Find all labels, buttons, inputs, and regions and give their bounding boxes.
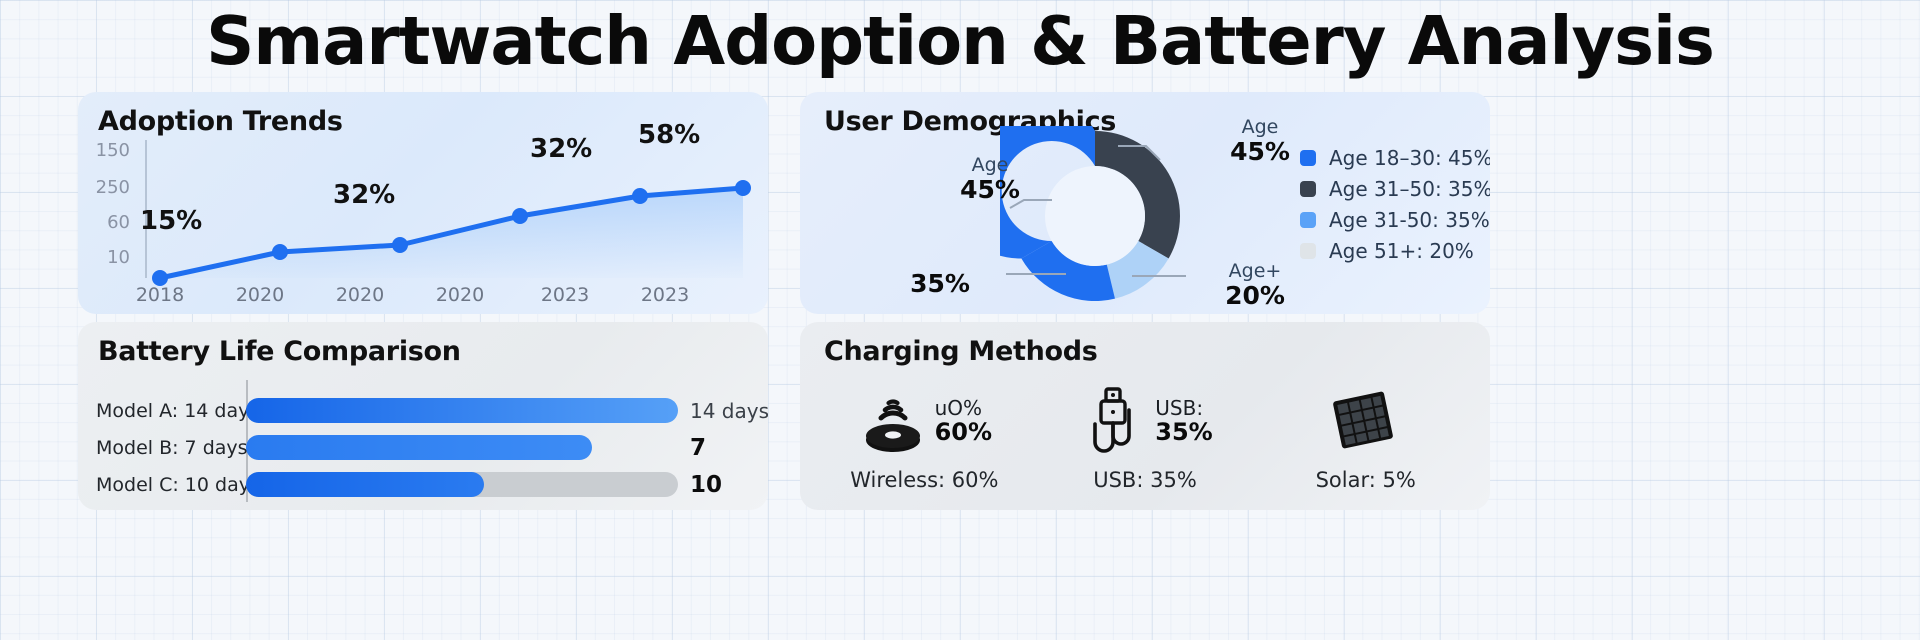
bar-label-model-b: Model B: 7 days — [96, 437, 246, 459]
list-item-wireless[interactable]: uO% 60% Wireless: 60% — [814, 384, 1035, 492]
y-tick-2: 60 — [86, 212, 130, 233]
legend-swatch-icon — [1300, 243, 1316, 259]
panel-user-demographics: User Demographics Age 45% Age 45% 35% Ag… — [800, 92, 1490, 314]
table-row: Model B: 7 days 7 — [96, 429, 756, 466]
panel-adoption-trends: Adoption Trends 150 250 60 10 2018 2020 … — [78, 92, 768, 314]
charging-methods-list: uO% 60% Wireless: 60% USB: 35% — [814, 384, 1476, 492]
x-tick-3: 2020 — [425, 284, 495, 306]
demographics-legend: Age 18–30: 45% Age 31–50: 35% Age 31-50:… — [1300, 142, 1490, 266]
usb-inline-stat: USB: 35% — [1155, 398, 1212, 445]
bar-fill-model-b — [246, 435, 592, 460]
wireless-inline-stat: uO% 60% — [935, 398, 992, 445]
wireless-charger-icon — [857, 386, 929, 458]
table-row: Model C: 10 days 10 10 days — [96, 466, 756, 503]
table-row: Model A: 14 days 14 days — [96, 392, 756, 429]
legend-item-age-51-plus[interactable]: Age 51+: 20% — [1300, 235, 1490, 266]
legend-item-age-31-50-b[interactable]: Age 31-50: 35% — [1300, 204, 1490, 235]
callout-35-bottom: 35% — [900, 270, 980, 298]
x-tick-2: 2020 — [325, 284, 395, 306]
legend-item-age-31-50-a[interactable]: Age 31–50: 35% — [1300, 173, 1490, 204]
bar-value-model-c: 10 — [690, 472, 722, 498]
x-tick-0: 2018 — [125, 284, 195, 306]
point-label-last: 58% — [638, 120, 700, 150]
list-item-solar[interactable]: Solar: 5% — [1255, 384, 1476, 492]
y-tick-1: 250 — [86, 177, 130, 198]
legend-swatch-icon — [1300, 212, 1316, 228]
point-label-2023: 32% — [530, 134, 592, 164]
page-title: Smartwatch Adoption & Battery Analysis — [0, 2, 1920, 80]
demographics-donut-chart — [1000, 126, 1190, 306]
wireless-caption: Wireless: 60% — [814, 468, 1035, 492]
bar-value-model-a: 14 days — [690, 399, 768, 423]
panel-title-charging: Charging Methods — [824, 336, 1098, 367]
bar-label-model-a: Model A: 14 days — [96, 400, 246, 422]
point-label-2018: 15% — [140, 206, 202, 236]
bar-value-model-b: 7 — [690, 435, 706, 461]
battery-bar-list: Model A: 14 days 14 days Model B: 7 days… — [96, 392, 756, 503]
panel-charging-methods: Charging Methods uO% 60% Wireless: 60% — [800, 322, 1490, 510]
panel-battery-life: Battery Life Comparison Model A: 14 days… — [78, 322, 768, 510]
legend-swatch-icon — [1300, 150, 1316, 166]
x-tick-5: 2023 — [630, 284, 700, 306]
x-tick-4: 2023 — [530, 284, 600, 306]
bar-track-model-a — [246, 398, 678, 423]
callout-age-45-left: Age 45% — [950, 156, 1030, 203]
panel-title-battery: Battery Life Comparison — [98, 336, 461, 367]
bar-fill-model-c — [246, 472, 484, 497]
usb-cable-icon — [1077, 386, 1149, 458]
list-item-usb[interactable]: USB: 35% USB: 35% — [1035, 384, 1256, 492]
usb-caption: USB: 35% — [1035, 468, 1256, 492]
point-label-mid: 32% — [333, 180, 395, 210]
legend-item-age-18-30[interactable]: Age 18–30: 45% — [1300, 142, 1490, 173]
bar-fill-model-a — [246, 398, 678, 423]
y-tick-0: 150 — [86, 140, 130, 161]
callout-age-20-bottom: Age+ 20% — [1212, 262, 1298, 309]
legend-swatch-icon — [1300, 181, 1316, 197]
x-tick-1: 2020 — [225, 284, 295, 306]
solar-caption: Solar: 5% — [1255, 468, 1476, 492]
solar-panel-icon — [1327, 386, 1399, 458]
bar-track-model-c — [246, 472, 678, 497]
bar-label-model-c: Model C: 10 days — [96, 474, 246, 496]
y-tick-3: 10 — [86, 247, 130, 268]
bar-track-model-b — [246, 435, 678, 460]
callout-age-45-right: Age 45% — [1220, 118, 1300, 165]
